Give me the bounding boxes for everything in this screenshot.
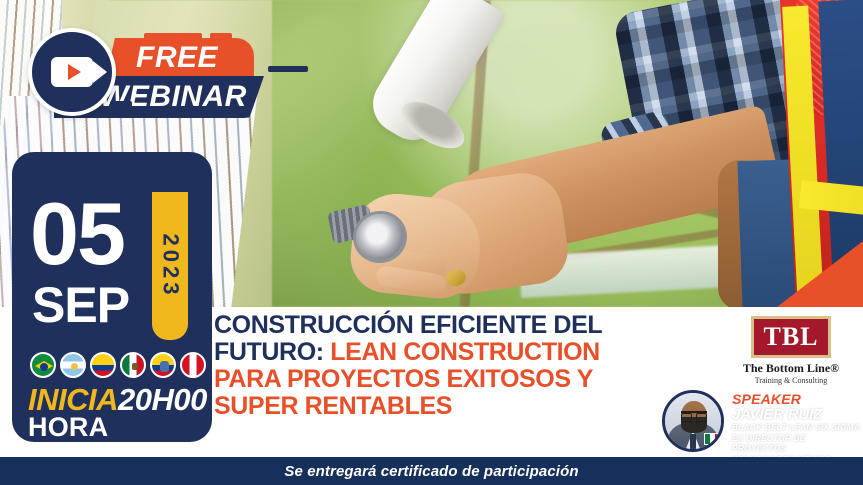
webinar-promo-banner: FREE WEBINAR 2023 05 SEP INICIA 20H00 (0, 0, 863, 485)
event-month: SEP (32, 280, 129, 330)
peru-flag-icon (180, 352, 206, 378)
inicia-word: INICIA (28, 384, 118, 415)
speaker-role-line-2: EX DIRECTOR DE PROYECTOS (732, 433, 862, 454)
title-line-2: FUTURO: LEAN CONSTRUCTION (214, 339, 684, 366)
tbl-logo: TBL The Bottom Line® Training & Consulti… (738, 316, 844, 385)
avatar-glasses (681, 411, 707, 418)
title-line-3-text: PARA PROYECTOS EXITOSOS Y (214, 365, 593, 393)
decorative-dash (294, 66, 308, 72)
title-line-2-orange-text: LEAN CONSTRUCTION (330, 338, 600, 366)
title-line-1: CONSTRUCCIÓN EFICIENTE DEL (214, 312, 684, 339)
argentina-flag-icon (60, 352, 86, 378)
ecuador-flag-icon (150, 352, 176, 378)
camera-body-shape (51, 57, 93, 87)
start-time-value: 20H00 (118, 384, 207, 415)
tbl-tagline: Training & Consulting (738, 376, 844, 385)
tbl-logo-mark: TBL (751, 316, 831, 358)
play-triangle-icon (68, 64, 81, 80)
speaker-label: SPEAKER (732, 392, 862, 407)
event-day: 05 (30, 192, 124, 276)
speaker-block: SPEAKER JAVIER RUIZ BLACK BELT LEAN SIX … (662, 390, 862, 464)
orange-corner-accent (777, 241, 863, 307)
brazil-flag-icon (30, 352, 56, 378)
avatar-tie (690, 434, 696, 451)
event-date-card: 2023 05 SEP INICIA 20H00 HORA ECUADOR (12, 152, 212, 442)
country-flags-row (30, 352, 206, 378)
colombia-flag-icon (90, 352, 116, 378)
mexico-flag-icon (120, 352, 146, 378)
title-line-4: SUPER RENTABLES (214, 393, 684, 420)
title-line-1-text: CONSTRUCCIÓN EFICIENTE DEL (214, 311, 602, 339)
title-line-3: PARA PROYECTOS EXITOSOS Y (214, 366, 684, 393)
video-camera-icon (28, 28, 116, 116)
webinar-title: CONSTRUCCIÓN EFICIENTE DEL FUTURO: LEAN … (214, 312, 684, 420)
mexico-flag-icon (704, 433, 721, 445)
free-label: FREE (106, 38, 254, 78)
timezone-label: HORA ECUADOR (28, 414, 212, 442)
free-webinar-badge: FREE WEBINAR (14, 14, 314, 118)
speaker-name: JAVIER RUIZ (732, 407, 862, 423)
year-bar: 2023 (152, 192, 188, 340)
speaker-avatar (662, 390, 724, 452)
certificate-notice-text: Se entregará certificado de participació… (284, 463, 578, 480)
speaker-details: SPEAKER JAVIER RUIZ BLACK BELT LEAN SIX … (732, 390, 862, 464)
title-line-2-navy-text: FUTURO: (214, 338, 324, 366)
title-line-4-text: SUPER RENTABLES (214, 392, 452, 420)
tbl-logo-letters: TBL (763, 322, 818, 352)
certificate-notice-bar: Se entregará certificado de participació… (0, 457, 863, 485)
event-year: 2023 (157, 234, 183, 299)
decorative-dash (110, 101, 132, 107)
start-time-line: INICIA 20H00 (28, 384, 207, 415)
tbl-company-name: The Bottom Line® (738, 361, 844, 376)
speaker-role-line-1: BLACK BELT LEAN SIX SIGMA (732, 422, 862, 432)
